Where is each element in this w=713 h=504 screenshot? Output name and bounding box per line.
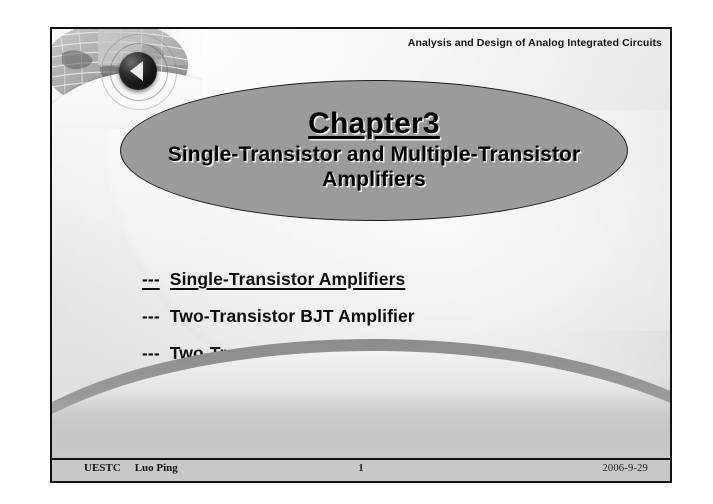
list-item-label: Single-Transistor Amplifiers bbox=[170, 269, 406, 290]
list-item-label: Two-Transistor BJT Amplifier bbox=[170, 306, 415, 327]
bullet-dash-icon: --- bbox=[142, 269, 160, 290]
slide-canvas: Analysis and Design of Analog Integrated… bbox=[50, 27, 672, 483]
list-item[interactable]: --- Single-Transistor Amplifiers bbox=[142, 269, 612, 290]
page-subtitle: Single-Transistor and Multiple-Transisto… bbox=[139, 142, 609, 193]
list-item[interactable]: --- Two-Transistor BJT Amplifier bbox=[142, 306, 612, 327]
title-ellipse: Chapter3 Single-Transistor and Multiple-… bbox=[120, 80, 628, 221]
footer-date: 2006-9-29 bbox=[602, 463, 648, 474]
footer-institution: UESTC bbox=[84, 462, 121, 474]
previous-triangle-icon bbox=[130, 61, 143, 81]
footer-bar: UESTCLuo Ping 1 2006-9-29 bbox=[52, 460, 670, 481]
page-title: Chapter3 bbox=[308, 108, 440, 140]
footer-author: Luo Ping bbox=[135, 462, 178, 474]
bullet-dash-icon: --- bbox=[142, 306, 160, 327]
slide-header-title: Analysis and Design of Analog Integrated… bbox=[408, 37, 662, 49]
previous-button[interactable] bbox=[119, 52, 157, 90]
footer-author-block: UESTCLuo Ping bbox=[84, 462, 178, 474]
footer-page-number: 1 bbox=[359, 463, 364, 474]
